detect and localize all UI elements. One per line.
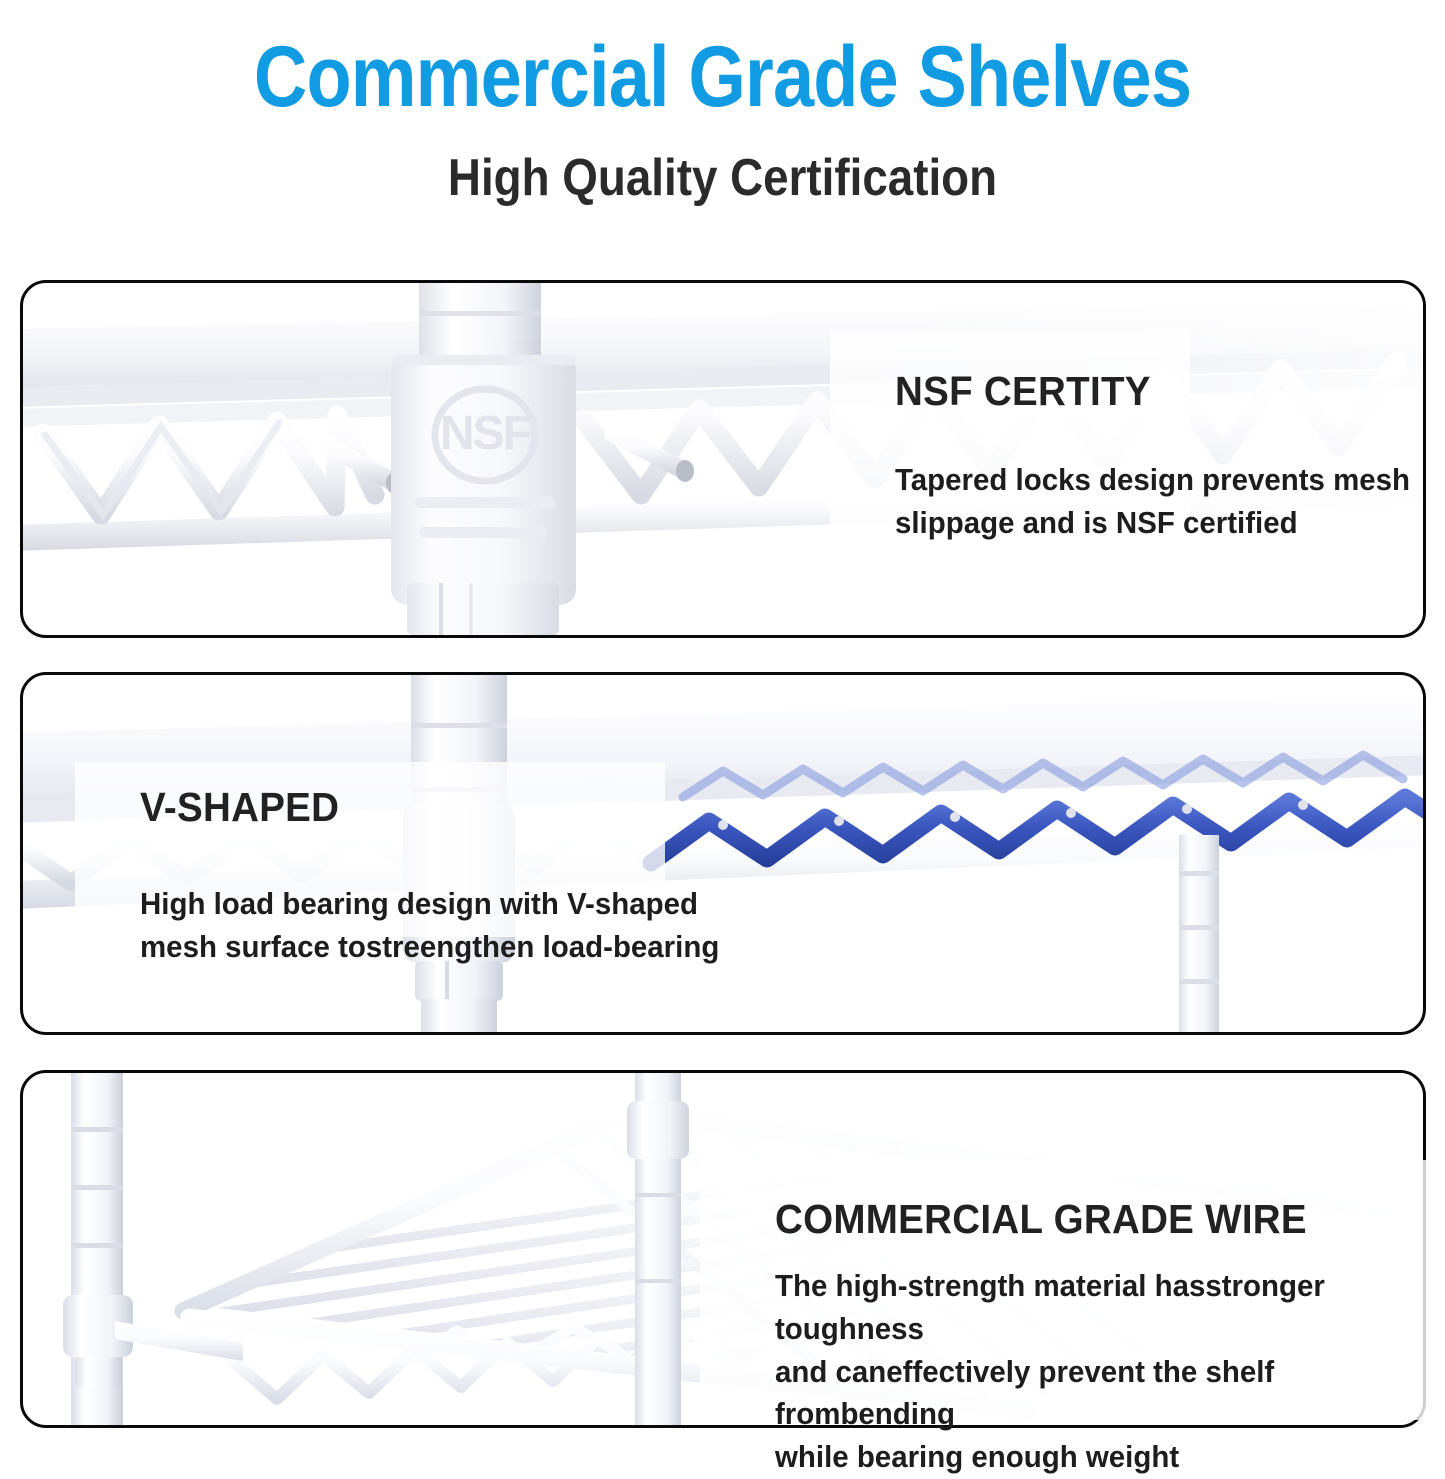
v-shaped-heading: V-SHAPED [140,786,713,829]
v-shaped-body: High load bearing design with V-shaped m… [140,883,719,969]
v-shaped-copy-block: V-SHAPED High load bearing design with V… [140,786,750,969]
page-title: Commercial Grade Shelves [101,34,1344,120]
page-subtitle: High Quality Certification [87,120,1359,204]
nsf-collar: NSF [391,355,576,635]
svg-text:NSF: NSF [440,407,531,460]
front-left-post [63,1073,243,1425]
commercial-wire-body: The high-strength material hasstronger t… [775,1265,1412,1479]
nsf-heading: NSF CERTITY [895,370,1405,413]
rear-post [1179,835,1219,1032]
page-header: Commercial Grade Shelves High Quality Ce… [0,0,1445,204]
nsf-body: Tapered locks design prevents mesh slipp… [895,459,1410,545]
nsf-copy-block: NSF CERTITY Tapered locks design prevent… [895,370,1437,545]
commercial-wire-copy-block: COMMERCIAL GRADE WIRE The high-strength … [775,1198,1445,1479]
commercial-wire-heading: COMMERCIAL GRADE WIRE [775,1198,1405,1241]
